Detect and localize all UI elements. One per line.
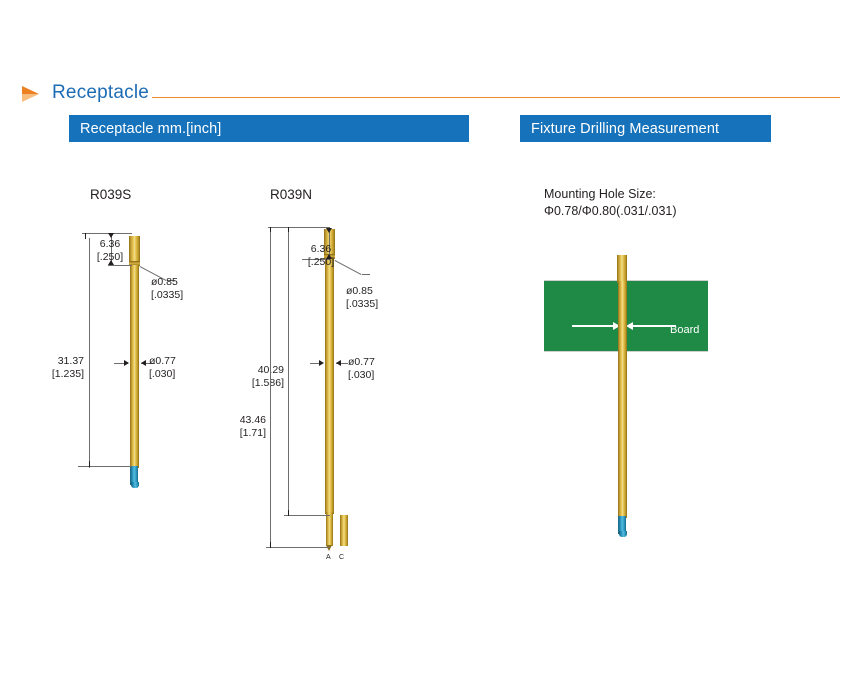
ext-line-top-r039n bbox=[268, 227, 330, 228]
fixture-pin-head bbox=[617, 255, 627, 283]
dim-arrow-diam077-right-r039n bbox=[336, 360, 341, 366]
dim-tick-4346-bottom-r039n bbox=[270, 542, 271, 548]
tip-mark-c-r039n: C bbox=[339, 554, 344, 561]
fixture-pin-shaft bbox=[618, 281, 627, 518]
dim-4346-r039n: 43.46 [1.71] bbox=[210, 414, 266, 440]
dim-diam085-r039n: ø0.85 [.0335] bbox=[346, 285, 406, 311]
fixture-pin-tip-end bbox=[619, 531, 627, 537]
dim-3137-r039s: 31.37 [1.235] bbox=[28, 355, 84, 381]
dim-diam085-r039s: ø0.85 [.0335] bbox=[151, 276, 211, 302]
pin-shaft-r039n bbox=[325, 258, 334, 514]
mounting-hole-label: Mounting Hole Size: bbox=[544, 187, 656, 201]
dim-636-r039n: 6.36 [.250] bbox=[295, 243, 347, 269]
dim-line-3137-r039s bbox=[89, 238, 90, 468]
dim-arrow-diam077-left-r039s bbox=[124, 360, 129, 366]
pin-tip-end-r039s bbox=[131, 482, 139, 488]
part-label-r039s: R039S bbox=[90, 187, 131, 202]
dim-4029-r039n: 40.29 [1.586] bbox=[228, 364, 284, 390]
ext-line-4346-bottom-r039n bbox=[266, 547, 330, 548]
ext-line-4029-bottom-r039n bbox=[284, 515, 330, 516]
tip-mark-a-r039n: A bbox=[326, 554, 331, 561]
fixture-drilling-diagram: Mounting Hole Size: Φ0.78/Φ0.80(.031/.03… bbox=[520, 0, 850, 700]
mounting-hole-value: Φ0.78/Φ0.80(.031/.031) bbox=[544, 204, 677, 218]
dim-diam077-r039n: ø0.77 [.030] bbox=[348, 356, 404, 382]
dim-tick-4029-bottom-r039n bbox=[288, 510, 289, 516]
dim-636-r039s: 6.36 [.250] bbox=[84, 238, 136, 264]
leader-shelf-diam085-r039n bbox=[362, 274, 370, 275]
ext-line-bottom-r039s bbox=[78, 466, 132, 467]
part-drawing-r039s: R039S 6.36 [.250] ø0.85 [.0335] 31.37 [1… bbox=[0, 0, 240, 700]
pin-sleeve-r039n bbox=[340, 515, 348, 546]
mounting-hole-size-text: Mounting Hole Size: Φ0.78/Φ0.80(.031/.03… bbox=[544, 186, 677, 220]
ext-line-top-r039s bbox=[82, 233, 132, 234]
dim-arrow-diam077-right-r039s bbox=[141, 360, 146, 366]
dim-line-4346-r039n bbox=[270, 232, 271, 548]
dim-diam077-r039s: ø0.77 [.030] bbox=[149, 355, 205, 381]
part-label-r039n: R039N bbox=[270, 187, 312, 202]
board-arrow-right-head bbox=[626, 322, 633, 330]
dim-tick-3137-bottom-r039s bbox=[89, 461, 90, 467]
pin-tip-taper-r039n bbox=[326, 512, 333, 546]
pin-tip-point-r039n bbox=[326, 545, 332, 551]
pin-shaft-r039s bbox=[130, 265, 139, 468]
board-arrow-left-line bbox=[572, 325, 616, 327]
part-drawing-r039n: R039N A C 6.36 [.250] ø0.85 [.0335] 40.2… bbox=[240, 0, 490, 700]
board-label: Board bbox=[670, 324, 699, 336]
dim-arrow-636-top-r039n bbox=[326, 228, 332, 233]
ext-line-mid-r039s bbox=[108, 265, 132, 266]
dim-arrow-diam077-left-r039n bbox=[319, 360, 324, 366]
dim-line-4029-r039n bbox=[288, 232, 289, 516]
